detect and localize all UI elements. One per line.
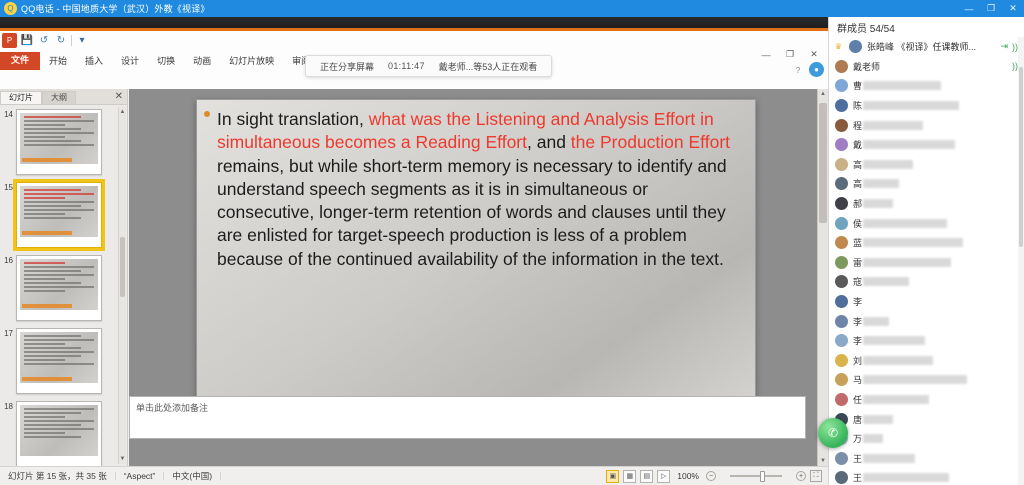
member-row[interactable]: 马 [829,370,1024,390]
member-row[interactable]: 高 [829,174,1024,194]
slide-seg-2: , and [527,132,571,152]
avatar [835,354,848,367]
tab-file[interactable]: 文件 [0,52,40,70]
avatar [835,119,848,132]
zoom-slider-knob[interactable] [760,471,765,482]
avatar [835,79,848,92]
help-icon[interactable]: ? [792,64,804,76]
language-indicator[interactable]: 中文(中国) [164,472,221,481]
member-row[interactable]: 陈 [829,96,1024,116]
avatar [849,40,862,53]
list-item[interactable]: 16 [2,255,117,321]
redacted-name-mask [863,375,967,384]
avatar [835,236,848,249]
avatar [835,197,848,210]
avatar [835,334,848,347]
avatar [835,99,848,112]
member-badges: ⇥)) [1000,41,1018,52]
member-row[interactable]: 刘 [829,351,1024,371]
ppt-window-controls: — ❐ ✕ [754,47,826,62]
normal-view-button[interactable]: ▣ [606,470,619,483]
scrollbar-thumb[interactable] [120,237,125,297]
member-name: 程 [853,119,923,132]
member-name: 侯 [853,217,947,230]
avatar [835,177,848,190]
zoom-in-button[interactable]: + [796,471,806,481]
redacted-name-mask [863,121,923,130]
member-row[interactable]: 万 [829,429,1024,449]
redacted-name-mask [863,101,959,110]
avatar [835,256,848,269]
member-name: 唐 [853,413,893,426]
slide-thumbnail-15-selected[interactable] [16,182,102,248]
redacted-name-mask [863,356,933,365]
account-icon[interactable]: ● [809,62,824,77]
member-row[interactable]: 李 [829,292,1024,312]
floating-call-button[interactable]: ✆ [818,418,848,448]
share-elapsed-time: 01:11:47 [388,61,425,71]
redacted-name-mask [863,219,947,228]
thumbnail-list[interactable]: 14 15 [0,105,127,466]
redacted-name-mask [863,140,955,149]
avatar [835,471,848,484]
member-count-header: 群成员 54/54 [829,17,1024,37]
thumbnail-preview [20,113,98,164]
screen-share-banner: 正在分享屏幕 01:11:47 戴老师...等53人正在观看 [305,55,552,77]
member-row[interactable]: 李 [829,311,1024,331]
redacted-name-mask [863,434,883,443]
member-row[interactable]: 雷 [829,253,1024,273]
zoom-slider-track [730,475,782,477]
redacted-name-mask [863,415,893,424]
thumbnail-footer [20,383,98,393]
bullet-icon [204,111,210,117]
member-name: 陈 [853,99,959,112]
member-row[interactable]: 蓝 [829,233,1024,253]
phone-icon: ✆ [828,426,838,440]
ppt-minimize-button[interactable]: — [754,47,778,62]
member-row[interactable]: 侯 [829,213,1024,233]
redacted-name-mask [863,199,893,208]
redo-icon[interactable]: ↻ [54,34,68,48]
member-row[interactable]: 曹 [829,76,1024,96]
thumbnail-footer [20,237,98,247]
member-name: 寇 [853,275,909,288]
tab-insert[interactable]: 插入 [76,54,112,70]
panel-tab-slides[interactable]: 幻灯片 [0,91,42,104]
powerpoint-window: P 💾 ↺ ↻ ▾ 文件 开始 插入 设计 切换 动画 幻灯片放映 审阅 视图 … [0,17,828,485]
member-name: 万 [853,432,883,445]
member-name: 王 [853,452,915,465]
share-status-label: 正在分享屏幕 [320,60,374,73]
redacted-name-mask [863,81,941,90]
member-name: 马 [853,373,967,386]
member-row[interactable]: 戴老师)) [829,57,1024,77]
screen-root: Q QQ电话 - 中国地质大学（武汉）外教《视译》 — ❐ ✕ P 💾 ↺ ↻ … [0,0,1024,485]
tab-home[interactable]: 开始 [40,54,76,70]
thumbnail-title-bar [22,377,72,381]
avatar [835,275,848,288]
list-item[interactable]: 18 [2,401,117,466]
panel-tab-outline[interactable]: 大纲 [42,91,76,104]
scrollbar-thumb[interactable] [819,103,827,223]
thumbnail-title-bar [22,304,72,308]
scroll-up-icon[interactable]: ▲ [818,91,828,97]
save-icon[interactable]: 💾 [20,34,34,48]
member-row[interactable]: ♛张皓峰 《视译》任课教师...⇥)) [829,37,1024,57]
member-list-scrollbar[interactable] [1018,37,1024,485]
share-viewers-label: 戴老师...等53人正在观看 [439,60,538,73]
thumbnail-number: 14 [2,109,16,119]
thumbnail-number: 18 [2,401,16,411]
member-name: 李 [853,295,862,308]
thumbnail-footer [20,310,98,320]
avatar [835,295,848,308]
panel-tab-strip: 幻灯片 大纲 ✕ [0,89,127,105]
member-row[interactable]: 王 [829,468,1024,485]
slide-body-text[interactable]: In sight translation, what was the Liste… [217,108,737,271]
member-name: 李 [853,315,889,328]
slide-seg-4: remains, but while short-term memory is … [217,156,727,269]
notes-input[interactable]: 单击此处添加备注 [129,396,806,439]
thumbnail-scrollbar[interactable]: ▲ ▼ [118,107,126,464]
avatar [835,315,848,328]
slide-counter: 幻灯片 第 15 张，共 35 张 [0,472,116,481]
qq-minimize-button[interactable]: — [958,0,980,17]
member-row[interactable]: 高 [829,155,1024,175]
ppt-title-strip [0,17,828,28]
scrollbar-thumb[interactable] [1019,67,1023,247]
redacted-name-mask [863,160,913,169]
redacted-name-mask [863,454,915,463]
member-rows[interactable]: ♛张皓峰 《视译》任课教师...⇥))戴老师))曹陈程戴高高郝侯蓝雷寇李李李刘马… [829,37,1024,485]
thumbnail-title-bar [22,158,72,162]
scroll-up-icon[interactable]: ▲ [119,109,126,115]
member-row[interactable]: 郝 [829,194,1024,214]
avatar [835,393,848,406]
member-name: 张皓峰 《视译》任课教师... [867,40,976,53]
fit-to-window-button[interactable]: ⛶ [810,470,822,482]
ppt-close-button[interactable]: ✕ [802,47,826,62]
slide-seg-3: the Production Effort [571,132,730,152]
redacted-name-mask [863,336,925,345]
theme-name[interactable]: “Aspect” [116,472,165,481]
scroll-down-icon[interactable]: ▼ [119,456,126,462]
member-name: 李 [853,334,925,347]
avatar [835,452,848,465]
slide-thumbnail-17[interactable] [16,328,102,394]
qq-restore-button[interactable]: ❐ [980,0,1002,17]
member-name: 高 [853,158,913,171]
thumbnail-footer [20,456,98,466]
avatar [835,138,848,151]
thumbnail-preview [20,405,98,456]
qq-window-controls: — ❐ ✕ [958,0,1024,17]
avatar [835,373,848,386]
slide-sorter-view-button[interactable]: ▦ [623,470,636,483]
tab-design[interactable]: 设计 [112,54,148,70]
member-list-panel: 群成员 54/54 ♛张皓峰 《视译》任课教师...⇥))戴老师))曹陈程戴高高… [828,17,1024,485]
redacted-name-mask [863,238,963,247]
notes-pane: 单击此处添加备注 [129,396,828,466]
thumbnail-number: 16 [2,255,16,265]
status-bar-right: ▣ ▦ ▤ ▷ 100% − + ⛶ [606,470,828,483]
redacted-name-mask [863,179,899,188]
thumbnail-number: 15 [2,182,16,192]
scroll-down-icon[interactable]: ▼ [818,458,828,464]
host-crown-icon: ♛ [833,41,844,52]
redacted-name-mask [863,395,929,404]
tab-animations[interactable]: 动画 [184,54,220,70]
member-name: 戴 [853,138,955,151]
list-item[interactable]: 15 [2,182,117,248]
member-name: 高 [853,177,899,190]
member-name: 雷 [853,256,951,269]
redacted-name-mask [863,473,949,482]
thumbnail-number: 17 [2,328,16,338]
member-row[interactable]: 王 [829,448,1024,468]
member-name: 刘 [853,354,933,367]
member-row[interactable]: 唐 [829,409,1024,429]
screen-share-icon: ⇥ [1000,41,1008,52]
member-name: 任 [853,393,929,406]
slide-thumbnail-18[interactable] [16,401,102,466]
redacted-name-mask [863,258,951,267]
member-name: 郝 [853,197,893,210]
member-row[interactable]: 程 [829,115,1024,135]
powerpoint-icon: P [2,33,17,48]
member-row[interactable]: 任 [829,390,1024,410]
qq-titlebar: Q QQ电话 - 中国地质大学（武汉）外教《视译》 — ❐ ✕ [0,0,1024,17]
undo-icon[interactable]: ↺ [37,34,51,48]
slide-thumbnail-16[interactable] [16,255,102,321]
tab-slideshow[interactable]: 幻灯片放映 [220,54,283,70]
tab-transitions[interactable]: 切换 [148,54,184,70]
thumbnail-footer [20,164,98,174]
thumbnail-preview [20,186,98,237]
slide-vertical-scrollbar[interactable]: ▲ ▼ [817,89,828,466]
thumbnail-preview [20,332,98,383]
member-name: 戴老师 [853,60,880,73]
avatar [835,217,848,230]
quick-access-toolbar: P 💾 ↺ ↻ ▾ [2,33,89,48]
member-row[interactable]: 戴 [829,135,1024,155]
member-row[interactable]: 寇 [829,272,1024,292]
slide-seg-0: In sight translation, [217,109,369,129]
list-item[interactable]: 17 [2,328,117,394]
ppt-restore-button[interactable]: ❐ [778,47,802,62]
qat-divider [71,35,72,46]
qq-penguin-icon: Q [4,2,17,15]
qq-close-button[interactable]: ✕ [1002,0,1024,17]
zoom-out-button[interactable]: − [706,471,716,481]
zoom-slider[interactable] [720,470,792,482]
slide-thumbnail-panel: 幻灯片 大纲 ✕ 14 [0,89,128,466]
member-name: 王 [853,471,949,484]
avatar [835,60,848,73]
thumbnail-title-bar [22,231,72,235]
redacted-name-mask [863,277,909,286]
thumbnail-preview [20,259,98,310]
slide-thumbnail-14[interactable] [16,109,102,175]
slideshow-view-button[interactable]: ▷ [657,470,670,483]
status-bar: 幻灯片 第 15 张，共 35 张 “Aspect” 中文(中国) ▣ ▦ ▤ … [0,466,828,485]
chevron-down-icon[interactable]: ▾ [75,34,89,48]
slide-editing-stage: In sight translation, what was the Liste… [129,89,828,466]
close-icon[interactable]: ✕ [115,91,123,102]
list-item[interactable]: 14 [2,109,117,175]
zoom-level-label: 100% [674,471,702,481]
avatar [835,158,848,171]
redacted-name-mask [863,317,889,326]
member-row[interactable]: 李 [829,331,1024,351]
reading-view-button[interactable]: ▤ [640,470,653,483]
member-name: 蓝 [853,236,963,249]
qq-window-title: QQ电话 - 中国地质大学（武汉）外教《视译》 [21,2,210,15]
member-name: 曹 [853,79,941,92]
